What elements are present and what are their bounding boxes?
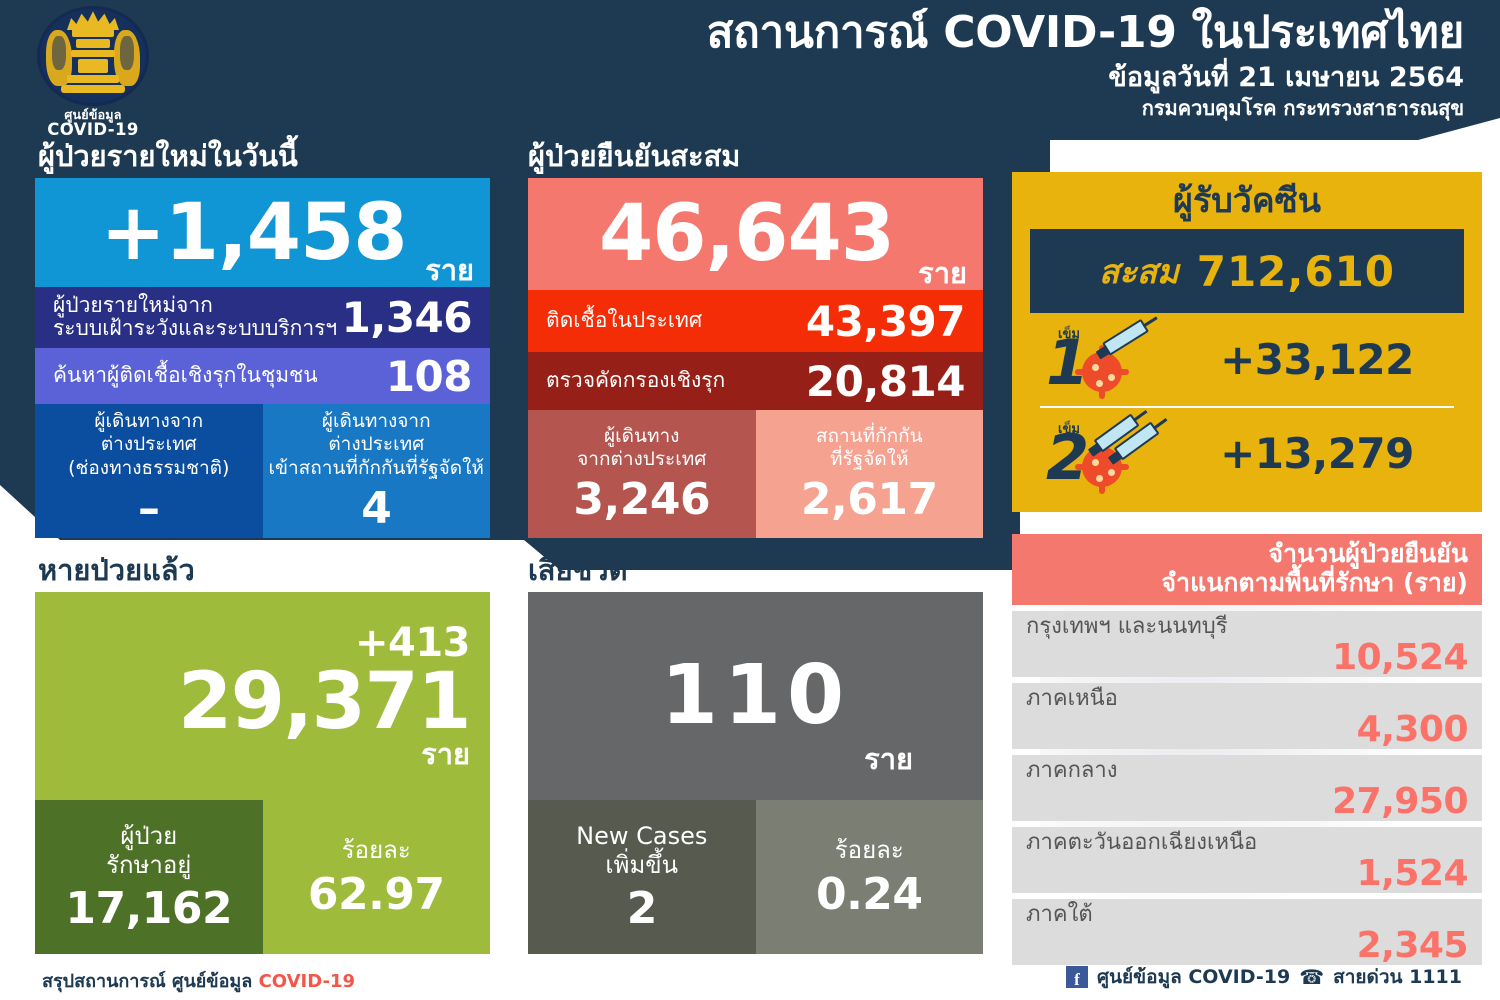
cumulative-panel: 46,643 ราย ติดเชื้อในประเทศ 43,397 ตรวจค…: [528, 178, 983, 538]
deaths-split-row: New Cases เพิ่มขึ้น 2 ร้อยละ 0.24: [528, 800, 983, 954]
region-name: ภาคใต้: [1026, 903, 1468, 927]
region-name: กรุงเทพฯ และนนทบุรี: [1026, 615, 1468, 639]
new-cases-natural-channel-label: ผู้เดินทางจาก ต่างประเทศ (ช่องทางธรรมชาต…: [68, 410, 229, 480]
deaths-total-block: 110 ราย: [528, 592, 983, 800]
new-cases-quarantine-value: 4: [361, 486, 391, 532]
region-value: 10,524: [1026, 639, 1468, 677]
region-name: ภาคกลาง: [1026, 759, 1468, 783]
recovered-percent-cell: ร้อยละ 62.97: [263, 800, 491, 954]
region-breakdown-panel: จำนวนผู้ป่วยยืนยัน จำแนกตามพื้นที่รักษา …: [1012, 534, 1482, 958]
region-value: 2,345: [1026, 927, 1468, 965]
recovered-active-value: 17,162: [65, 886, 232, 932]
thai-government-emblem: ศูนย์ข้อมูล COVID-19: [18, 4, 168, 136]
syringe-dose1-icon: เข็ม 1: [1030, 322, 1170, 396]
deaths-unit: ราย: [864, 745, 913, 774]
deaths-total: 110: [661, 655, 850, 737]
region-row: ภาคตะวันออกเฉียงเหนือ 1,524: [1012, 827, 1482, 893]
cumulative-screening-row: ตรวจคัดกรองเชิงรุก 20,814: [528, 352, 983, 410]
cumulative-unit: ราย: [918, 259, 967, 288]
vaccine-total-value: 712,610: [1197, 247, 1395, 296]
vaccine-total-box: สะสม 712,610: [1030, 229, 1464, 313]
region-value: 1,524: [1026, 855, 1468, 893]
new-cases-surveillance-label: ผู้ป่วยรายใหม่จาก ระบบเฝ้าระวังและระบบบร…: [53, 294, 337, 340]
recovered-percent-label: ร้อยละ: [342, 836, 411, 865]
deaths-new-label: New Cases เพิ่มขึ้น: [576, 822, 707, 881]
region-title-line2: จำแนกตามพื้นที่รักษา (ราย): [1026, 569, 1468, 598]
region-title-line1: จำนวนผู้ป่วยยืนยัน: [1026, 540, 1468, 569]
vaccine-total-label: สะสม: [1099, 245, 1179, 298]
cumulative-quarantine-label: สถานที่กักกัน ที่รัฐจัดให้: [816, 425, 923, 471]
footer-right: f ศูนย์ข้อมูล COVID-19 ☎ สายด่วน 1111: [1066, 962, 1462, 992]
report-date: ข้อมูลวันที่ 21 เมษายน 2564: [707, 61, 1464, 95]
recovered-total: 29,371: [178, 663, 470, 743]
new-cases-active-row: ค้นหาผู้ติดเชื้อเชิงรุกในชุมชน 108: [35, 348, 490, 405]
new-cases-surveillance-row: ผู้ป่วยรายใหม่จาก ระบบเฝ้าระวังและระบบบร…: [35, 287, 490, 347]
footer-covid-label: COVID-19: [259, 971, 355, 992]
recovered-active-label: ผู้ป่วย รักษาอยู่: [106, 822, 191, 881]
facebook-page-label: ศูนย์ข้อมูล COVID-19: [1097, 962, 1290, 992]
deaths-panel: 110 ราย New Cases เพิ่มขึ้น 2 ร้อยละ 0.2…: [528, 592, 983, 954]
header-text-block: สถานการณ์ COVID-19 ในประเทศไทย ข้อมูลวัน…: [707, 8, 1464, 121]
cumulative-overseas-value: 3,246: [573, 477, 710, 523]
new-cases-total: +1,458: [100, 196, 424, 270]
vaccine-dose2-row: เข็ม 2 +13,279: [1030, 408, 1464, 500]
recovered-active-cell: ผู้ป่วย รักษาอยู่ 17,162: [35, 800, 263, 954]
vaccine-dose1-row: เข็ม 1 +33,122: [1030, 313, 1464, 405]
new-cases-natural-channel-value: –: [138, 486, 160, 532]
dose2-digit: 2: [1046, 427, 1089, 489]
syringe-icon: [1102, 319, 1149, 356]
region-row: ภาคกลาง 27,950: [1012, 755, 1482, 821]
cumulative-domestic-value: 43,397: [806, 297, 965, 346]
new-cases-active-label: ค้นหาผู้ติดเชื้อเชิงรุกในชุมชน: [53, 364, 318, 387]
footer-summary-label: สรุปสถานการณ์ ศูนย์ข้อมูล: [42, 971, 259, 992]
new-cases-active-value: 108: [386, 352, 472, 401]
emblem-caption-covid: COVID-19: [18, 121, 168, 140]
new-cases-quarantine-label: ผู้เดินทางจาก ต่างประเทศ เข้าสถานที่กักก…: [269, 410, 484, 480]
vaccine-panel: ผู้รับวัคซีน สะสม 712,610 เข็ม 1 +33,122…: [1012, 172, 1482, 512]
deaths-percent-label: ร้อยละ: [835, 836, 904, 865]
dose1-value: +33,122: [1170, 335, 1464, 384]
recovered-unit: ราย: [421, 740, 470, 769]
recovered-panel: +413 29,371 ราย ผู้ป่วย รักษาอยู่ 17,162…: [35, 592, 490, 954]
region-value: 27,950: [1026, 783, 1468, 821]
new-cases-quarantine-cell: ผู้เดินทางจาก ต่างประเทศ เข้าสถานที่กักก…: [263, 404, 491, 538]
hotline-label: สายด่วน 1111: [1333, 962, 1462, 992]
recovered-total-block: +413 29,371 ราย: [35, 592, 490, 800]
deaths-new-value: 2: [627, 886, 657, 932]
recovered-percent-value: 62.97: [308, 872, 445, 918]
region-name: ภาคเหนือ: [1026, 687, 1468, 711]
new-cases-surveillance-value: 1,346: [342, 293, 472, 342]
new-cases-natural-channel-cell: ผู้เดินทางจาก ต่างประเทศ (ช่องทางธรรมชาต…: [35, 404, 263, 538]
new-cases-caption: ผู้ป่วยรายใหม่ในวันนี้: [38, 142, 298, 171]
new-cases-split-row: ผู้เดินทางจาก ต่างประเทศ (ช่องทางธรรมชาต…: [35, 404, 490, 538]
dose2-value: +13,279: [1170, 429, 1464, 478]
deaths-percent-cell: ร้อยละ 0.24: [756, 800, 984, 954]
cumulative-overseas-cell: ผู้เดินทาง จากต่างประเทศ 3,246: [528, 410, 756, 538]
region-name: ภาคตะวันออกเฉียงเหนือ: [1026, 831, 1468, 855]
region-row: ภาคเหนือ 4,300: [1012, 683, 1482, 749]
region-title: จำนวนผู้ป่วยยืนยัน จำแนกตามพื้นที่รักษา …: [1012, 534, 1482, 605]
footer-left: สรุปสถานการณ์ ศูนย์ข้อมูล COVID-19: [42, 966, 355, 995]
page-title: สถานการณ์ COVID-19 ในประเทศไทย: [707, 8, 1464, 59]
deaths-percent-value: 0.24: [816, 872, 923, 918]
cumulative-total: 46,643: [599, 197, 912, 271]
new-cases-total-block: +1,458 ราย: [35, 178, 490, 287]
phone-icon: ☎: [1299, 965, 1324, 989]
garuda-emblem-icon: [37, 6, 149, 106]
vaccine-title: ผู้รับวัคซีน: [1030, 182, 1464, 221]
syringe-dose2-icon: เข็ม 2: [1030, 417, 1170, 491]
cumulative-quarantine-value: 2,617: [801, 477, 938, 523]
recovered-caption: หายป่วยแล้ว: [38, 556, 195, 585]
new-cases-unit: ราย: [425, 256, 474, 285]
recovered-split-row: ผู้ป่วย รักษาอยู่ 17,162 ร้อยละ 62.97: [35, 800, 490, 954]
cumulative-total-block: 46,643 ราย: [528, 178, 983, 290]
cumulative-domestic-label: ติดเชื้อในประเทศ: [546, 309, 702, 332]
department-label: กรมควบคุมโรค กระทรวงสาธารณสุข: [707, 95, 1464, 121]
cumulative-overseas-label: ผู้เดินทาง จากต่างประเทศ: [577, 425, 706, 471]
region-value: 4,300: [1026, 711, 1468, 749]
cumulative-screening-label: ตรวจคัดกรองเชิงรุก: [546, 369, 725, 392]
deaths-new-cell: New Cases เพิ่มขึ้น 2: [528, 800, 756, 954]
cumulative-caption: ผู้ป่วยยืนยันสะสม: [528, 142, 740, 171]
new-cases-panel: +1,458 ราย ผู้ป่วยรายใหม่จาก ระบบเฝ้าระว…: [35, 178, 490, 538]
cumulative-quarantine-cell: สถานที่กักกัน ที่รัฐจัดให้ 2,617: [756, 410, 984, 538]
region-row: ภาคใต้ 2,345: [1012, 899, 1482, 965]
cumulative-domestic-row: ติดเชื้อในประเทศ 43,397: [528, 290, 983, 352]
deaths-caption: เสียชีวิต: [528, 556, 627, 585]
cumulative-screening-value: 20,814: [806, 357, 965, 406]
region-row: กรุงเทพฯ และนนทบุรี 10,524: [1012, 611, 1482, 677]
facebook-icon[interactable]: f: [1066, 966, 1088, 988]
cumulative-split-row: ผู้เดินทาง จากต่างประเทศ 3,246 สถานที่กั…: [528, 410, 983, 538]
